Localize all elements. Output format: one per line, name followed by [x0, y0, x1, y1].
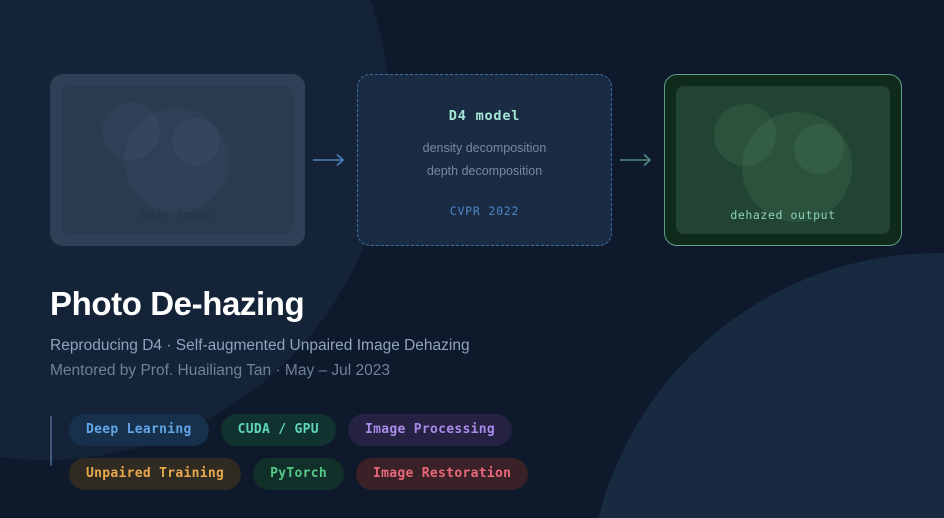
- tag-list: Deep LearningCUDA / GPUImage ProcessingU…: [69, 414, 681, 490]
- page-title: Photo De-hazing: [50, 283, 750, 324]
- tag-chip[interactable]: Image Processing: [348, 414, 512, 446]
- dehazed-output-card: dehazed output: [664, 74, 902, 246]
- arrow-right-icon: [619, 151, 657, 169]
- project-card-root: hazy input D4 model density decompositio…: [0, 0, 944, 518]
- tag-chip[interactable]: Deep Learning: [69, 414, 209, 446]
- hazy-input-preview: hazy input: [62, 86, 293, 234]
- dehazed-output-preview: dehazed output: [676, 86, 890, 234]
- tag-chip[interactable]: Unpaired Training: [69, 458, 241, 490]
- haze-circle-icon: [172, 118, 220, 166]
- tag-accent-bar: [50, 416, 52, 466]
- project-subtitle: Reproducing D4 · Self-augmented Unpaired…: [50, 333, 750, 358]
- tag-section: Deep LearningCUDA / GPUImage ProcessingU…: [50, 414, 810, 490]
- dehazing-pipeline: hazy input D4 model density decompositio…: [50, 74, 902, 246]
- project-meta: Mentored by Prof. Huailiang Tan · May – …: [50, 358, 750, 383]
- d4-model-card: D4 model density decomposition depth dec…: [357, 74, 612, 246]
- tag-chip[interactable]: PyTorch: [253, 458, 344, 490]
- hazy-input-card: hazy input: [50, 74, 305, 246]
- model-line-1: density decomposition: [423, 137, 547, 160]
- tag-chip[interactable]: CUDA / GPU: [221, 414, 336, 446]
- model-line-2: depth decomposition: [427, 160, 542, 183]
- dehazed-output-label: dehazed output: [676, 208, 890, 222]
- project-heading: Photo De-hazing Reproducing D4 · Self-au…: [50, 283, 750, 383]
- haze-circle-icon: [124, 108, 229, 213]
- model-venue-badge: CVPR 2022: [450, 204, 520, 218]
- clear-circle-icon: [794, 124, 844, 174]
- hazy-input-label: hazy input: [62, 208, 293, 222]
- arrow-right-icon: [312, 151, 350, 169]
- model-title: D4 model: [449, 108, 520, 124]
- tag-chip[interactable]: Image Restoration: [356, 458, 528, 490]
